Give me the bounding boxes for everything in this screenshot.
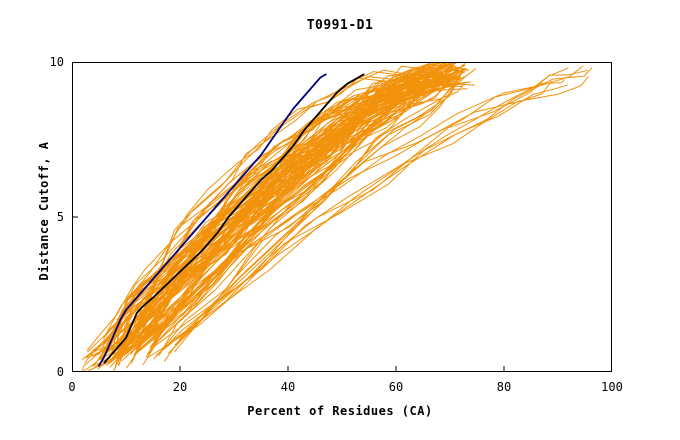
series-layer <box>72 62 612 372</box>
series-line <box>107 77 455 365</box>
series-line <box>175 69 475 345</box>
x-axis-label: Percent of Residues (CA) <box>0 404 680 418</box>
x-tick-label: 100 <box>601 380 623 394</box>
x-tick-label: 80 <box>497 380 511 394</box>
x-tick-label: 40 <box>281 380 295 394</box>
plot-canvas <box>72 62 612 372</box>
y-tick-label: 0 <box>38 365 64 379</box>
y-axis-label: Distance Cutoff, A <box>37 81 51 341</box>
y-tick-label: 10 <box>38 55 64 69</box>
chart-root: T0991-D1 020406080100 0510 Percent of Re… <box>0 0 680 440</box>
x-tick-label: 60 <box>389 380 403 394</box>
x-tick-label: 0 <box>68 380 75 394</box>
plot-area <box>72 62 612 372</box>
x-tick-label: 20 <box>173 380 187 394</box>
series-line <box>127 83 465 368</box>
chart-title: T0991-D1 <box>0 18 680 33</box>
